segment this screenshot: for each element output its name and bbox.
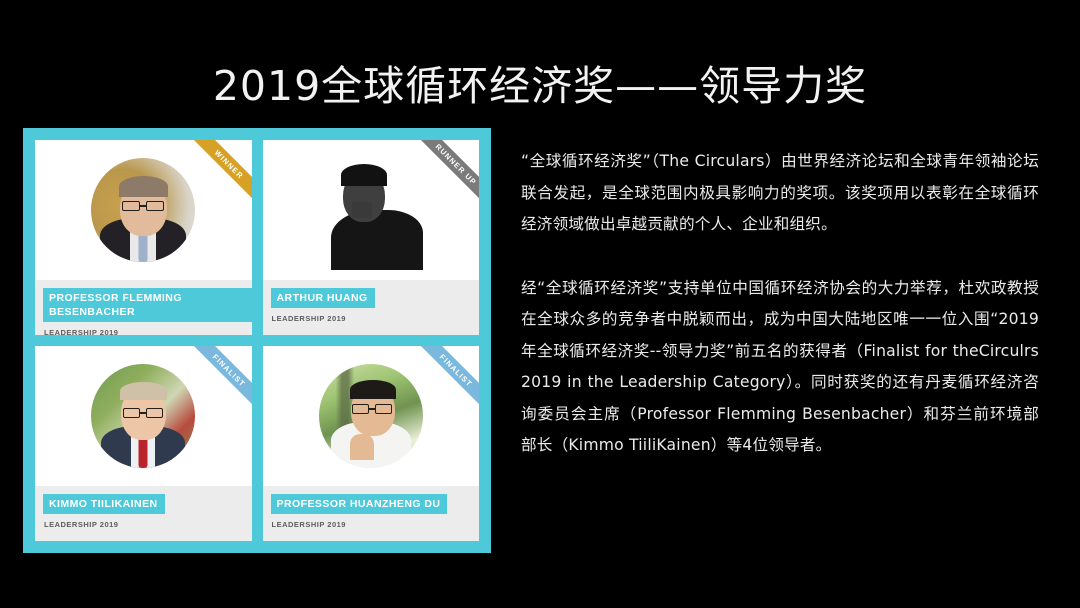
award-card[interactable]: FINALIST PROFESSOR HUANZHENG DU LEADERSH… [263,346,480,541]
card-meta: PROFESSOR HUANZHENG DU LEADERSHIP 2019 [263,486,480,541]
article-paragraph-1: “全球循环经济奖”（The Circulars）由世界经济论坛和全球青年领袖论坛… [521,146,1039,241]
card-photo [263,346,480,486]
awards-panel: WINNER PROFESSOR FLEMMING BESENBACHER LE… [23,128,491,553]
award-card[interactable]: WINNER PROFESSOR FLEMMING BESENBACHER LE… [35,140,252,335]
card-photo [35,346,252,486]
kimmo-tiilikainen-portrait [91,364,195,468]
award-subtitle: LEADERSHIP 2019 [271,314,346,323]
huanzheng-du-portrait [319,364,423,468]
article-text: “全球循环经济奖”（The Circulars）由世界经济论坛和全球青年领袖论坛… [521,146,1039,462]
card-meta: KIMMO TIILIKAINEN LEADERSHIP 2019 [35,486,252,541]
card-meta: PROFESSOR FLEMMING BESENBACHER LEADERSHI… [35,280,252,335]
card-photo [35,140,252,280]
arthur-huang-portrait [317,150,425,270]
award-card[interactable]: FINALIST KIMMO TIILIKAINEN LEADERSHIP 20… [35,346,252,541]
award-subtitle: LEADERSHIP 2019 [43,520,118,529]
award-name: PROFESSOR FLEMMING BESENBACHER [43,288,252,322]
card-meta: ARTHUR HUANG LEADERSHIP 2019 [263,280,480,335]
award-subtitle: LEADERSHIP 2019 [271,520,346,529]
flemming-besenbacher-portrait [91,158,195,262]
award-card[interactable]: RUNNER UP ARTHUR HUANG LEADERSHIP 2019 [263,140,480,335]
page-title: 2019全球循环经济奖——领导力奖 [0,52,1080,112]
award-subtitle: LEADERSHIP 2019 [43,328,118,335]
award-name: KIMMO TIILIKAINEN [43,494,165,514]
award-name: PROFESSOR HUANZHENG DU [271,494,448,514]
award-name: ARTHUR HUANG [271,288,375,308]
article-paragraph-2: 经“全球循环经济奖”支持单位中国循环经济协会的大力举荐，杜欢政教授在全球众多的竞… [521,273,1039,462]
card-photo [263,140,480,280]
